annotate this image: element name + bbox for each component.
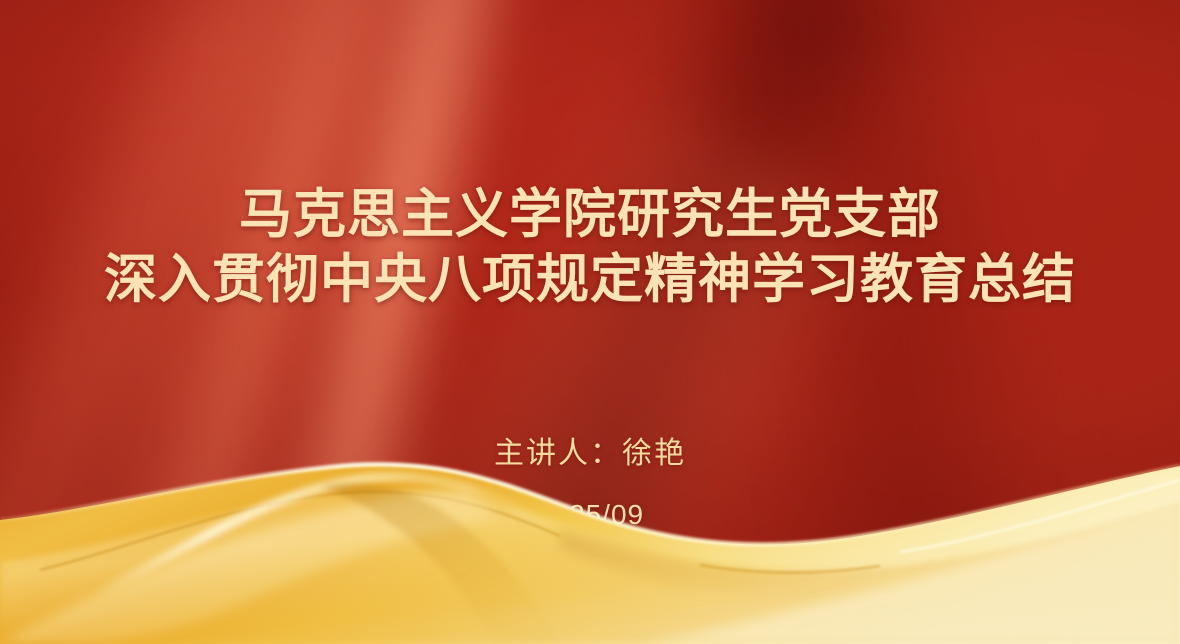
title-line-2: 深入贯彻中央八项规定精神学习教育总结	[0, 247, 1180, 312]
page-title: 马克思主义学院研究生党支部 深入贯彻中央八项规定精神学习教育总结	[0, 182, 1180, 312]
title-line-1: 马克思主义学院研究生党支部	[0, 182, 1180, 247]
title-slide: 马克思主义学院研究生党支部 深入贯彻中央八项规定精神学习教育总结 主讲人：徐艳 …	[0, 0, 1180, 644]
gold-silk-wave	[0, 444, 1180, 644]
